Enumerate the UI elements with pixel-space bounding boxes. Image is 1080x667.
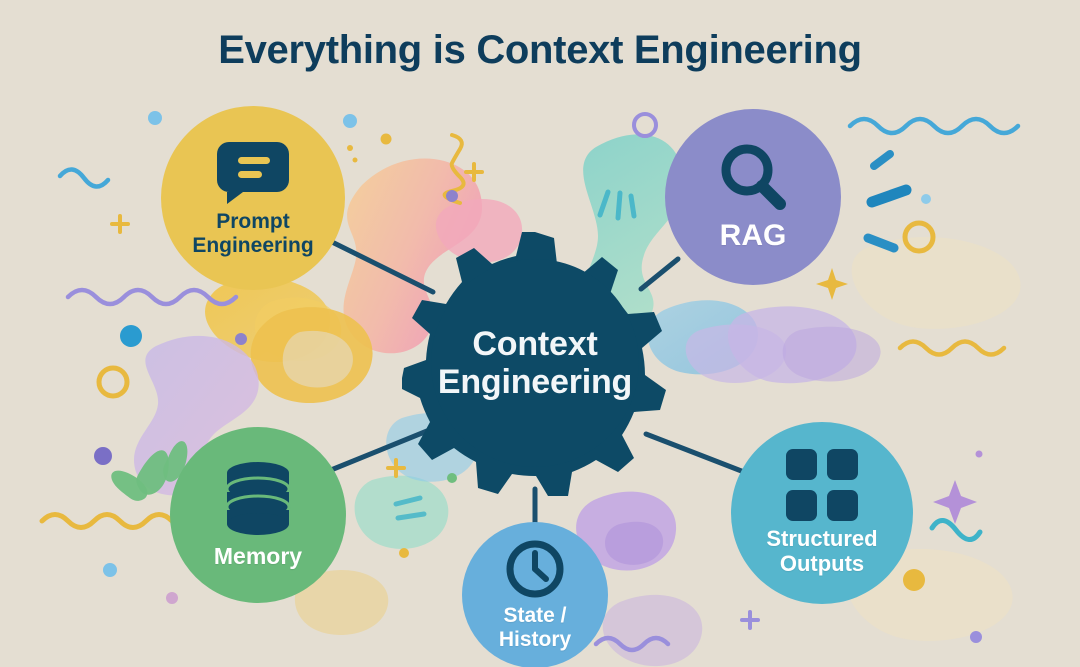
node-label-memory: Memory bbox=[214, 544, 302, 570]
node-label-structured-outputs: Structured Outputs bbox=[766, 527, 877, 576]
page-title: Everything is Context Engineering bbox=[0, 28, 1080, 73]
node-memory[interactable]: Memory bbox=[170, 427, 346, 603]
infographic-canvas: Everything is Context Engineering Contex… bbox=[0, 0, 1080, 667]
hub-label: Context Engineering bbox=[402, 325, 668, 401]
node-state-history[interactable]: State / History bbox=[462, 522, 608, 667]
node-label-prompt-engineering: Prompt Engineering bbox=[192, 210, 313, 257]
node-structured-outputs[interactable]: Structured Outputs bbox=[731, 422, 913, 604]
grid-four-icon bbox=[786, 449, 858, 521]
database-icon bbox=[223, 461, 293, 537]
node-label-state-history: State / History bbox=[499, 604, 571, 651]
magnifier-icon bbox=[715, 141, 791, 215]
node-label-rag: RAG bbox=[720, 219, 787, 253]
node-rag[interactable]: RAG bbox=[665, 109, 841, 285]
chat-bubble-icon bbox=[217, 138, 289, 204]
clock-icon bbox=[504, 538, 566, 600]
node-prompt-engineering[interactable]: Prompt Engineering bbox=[161, 106, 345, 290]
hub-node-context-engineering[interactable]: Context Engineering bbox=[402, 230, 668, 496]
